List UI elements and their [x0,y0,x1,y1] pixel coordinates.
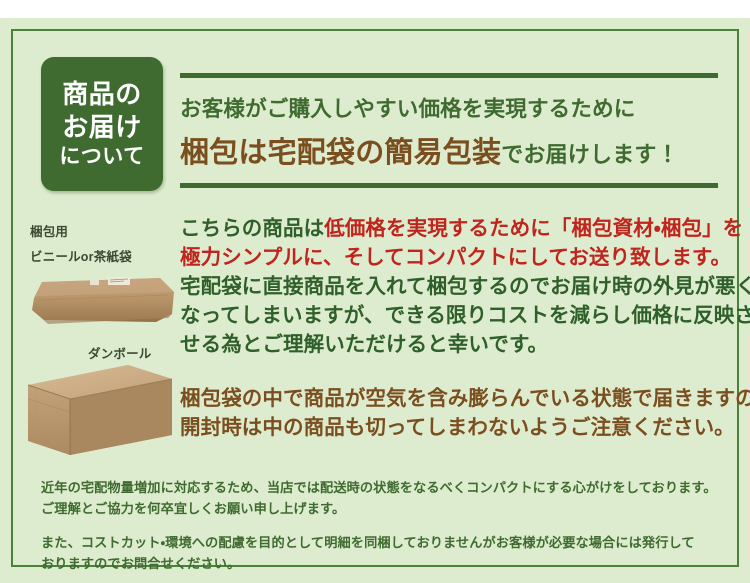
body-line-5: せる為とご理解いただけると幸いです。 [180,330,728,359]
body-line-3: 宅配袋に直接商品を入れて梱包するのでお届け時の外見が悪く [180,272,728,301]
rule-top [180,73,718,78]
shipping-info-banner: 商品の お届け について お客様がご購入しやすい価格を実現するために 梱包は宅配… [0,18,750,583]
footnote-gap [41,520,711,532]
badge-line-2: お届け [62,111,142,144]
notice-line-2: 開封時は中の商品も切ってしまわないようご注意ください。 [180,413,728,442]
headline-line-2: 梱包は宅配袋の簡易包装でお届けします！ [180,129,720,171]
notice-copy: 梱包袋の中で商品が空気を含み膨らんでいる状態で届きますので、 開封時は中の商品も… [180,384,728,442]
headline-line-1: お客様がご購入しやすい価格を実現するために [180,92,720,123]
body-line-1-red: 低価格を実現するために「梱包資材・梱包」を [324,217,743,240]
caption-vinyl-bag-line1: 梱包用 [30,221,68,240]
footnote-p1-line2: ご理解とご協力を何卒宜しくお願い申し上げます。 [41,498,711,519]
headline-tail: でお届けします！ [501,142,679,167]
footnote-block: 近年の宅配物量増加に対応するため、当店では配送時の状態をなるべくコンパクトにする… [41,477,711,575]
kraft-bag-photo [28,270,178,332]
headline-emphasis: 梱包は宅配袋の簡易包装 [180,137,501,169]
badge-line-1: 商品の [62,78,142,111]
caption-vinyl-bag-line2: ビニールor茶紙袋 [30,246,132,265]
body-line-1-lead: こちらの商品は [180,217,324,240]
footnote-p2-line2: おりますのでお問合せください。 [41,553,711,574]
rule-bottom [180,183,718,188]
headline-block: お客様がご購入しやすい価格を実現するために 梱包は宅配袋の簡易包装でお届けします… [180,73,720,188]
section-badge: 商品の お届け について [41,57,163,191]
cardboard-box-photo [22,359,177,459]
body-copy: こちらの商品は低価格を実現するために「梱包資材・梱包」を 極力シンプルに、そして… [180,214,728,360]
body-line-2: 極力シンプルに、そしてコンパクトにしてお送り致します。 [180,243,728,272]
notice-line-1: 梱包袋の中で商品が空気を含み膨らんでいる状態で届きますので、 [180,384,728,413]
badge-line-3: について [59,144,144,170]
body-line-1: こちらの商品は低価格を実現するために「梱包資材・梱包」を [180,214,728,243]
footnote-p2-line1: また、コストカット・環境への配慮を目的として明細を同梱しておりませんがお客様が必… [41,532,711,553]
body-line-4: なってしまいますが、できる限りコストを減らし価格に反映さ [180,301,728,330]
footnote-p1-line1: 近年の宅配物量増加に対応するため、当店では配送時の状態をなるべくコンパクトにする… [41,477,711,498]
